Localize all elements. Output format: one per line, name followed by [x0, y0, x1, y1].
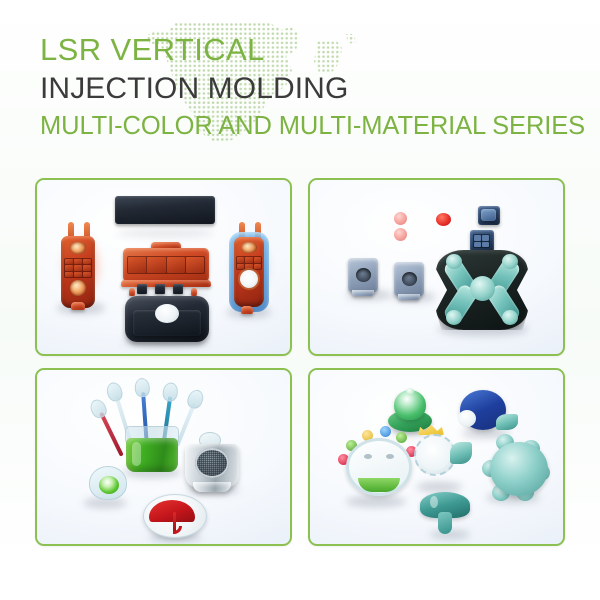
- panel-3-stage: [37, 370, 290, 544]
- poster-root: LSR VERTICAL INJECTION MOLDING MULTI-COL…: [0, 0, 600, 600]
- pink-seal-small-2: [394, 228, 407, 241]
- panel-2-stage: [310, 180, 563, 354]
- shadow: [117, 228, 213, 238]
- panel-kitchen-items[interactable]: [35, 368, 292, 546]
- panel-grey-teal-connectors[interactable]: [308, 178, 565, 356]
- pink-seal-small: [394, 212, 407, 225]
- panel-automotive-connectors[interactable]: [35, 178, 292, 356]
- black-seal-bar: [115, 196, 215, 224]
- red-seal-disc: [436, 213, 451, 226]
- panel-baby-teethers[interactable]: [308, 368, 565, 546]
- shadow: [416, 482, 462, 492]
- product-gallery-grid: [35, 178, 565, 546]
- shadow: [346, 496, 406, 507]
- headline-tertiary: MULTI-COLOR AND MULTI-MATERIAL SERIES: [40, 114, 600, 140]
- panel-4-stage: [310, 370, 563, 544]
- headline-secondary: INJECTION MOLDING: [40, 74, 600, 104]
- header: LSR VERTICAL INJECTION MOLDING MULTI-COL…: [0, 0, 600, 168]
- panel-1-stage: [37, 180, 290, 354]
- headline-primary: LSR VERTICAL: [40, 34, 600, 65]
